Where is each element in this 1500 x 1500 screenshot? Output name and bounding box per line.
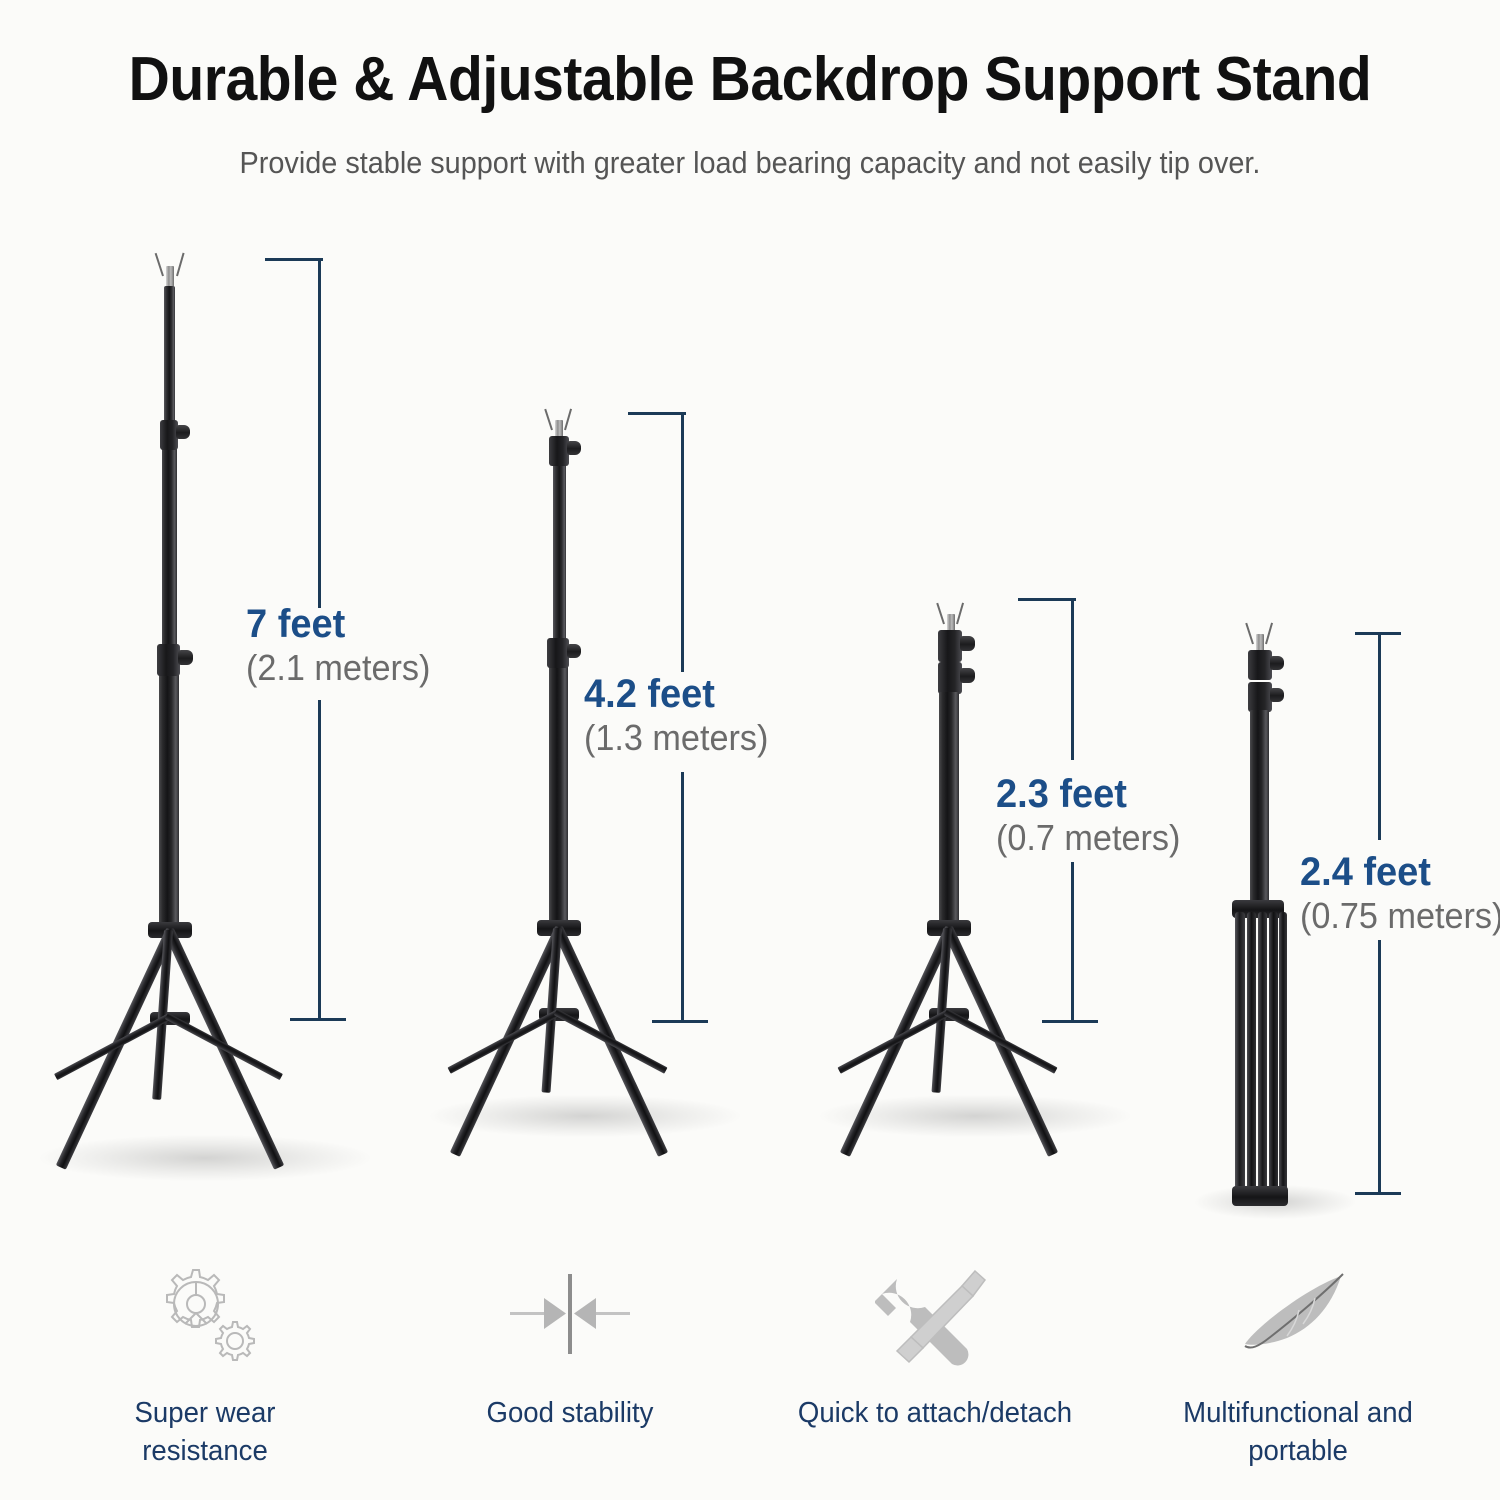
- center-column: [1250, 710, 1269, 910]
- feature-quick-attach-detach: Quick to attach/detach: [755, 1255, 1115, 1433]
- lock-collar-2[interactable]: [938, 662, 962, 694]
- dim-tick-bottom: [290, 1018, 346, 1021]
- feature-good-stability: Good stability: [390, 1255, 750, 1433]
- dim-tick-top: [1018, 598, 1076, 601]
- dim-line-upper: [1071, 598, 1074, 760]
- feature-multifunctional-portable: Multifunctional and portable: [1118, 1255, 1478, 1470]
- lock-collar-1[interactable]: [938, 630, 962, 662]
- stability-arrows-icon: [390, 1255, 750, 1373]
- spigot-clip-right-icon: [1265, 623, 1273, 645]
- dim-line-lower: [681, 772, 684, 1022]
- dim-tick-bottom: [652, 1020, 708, 1023]
- folded-leg-3: [1258, 912, 1267, 1204]
- tube-section-1: [553, 452, 566, 648]
- tube-section-2: [162, 428, 177, 656]
- folded-strut-2: [1279, 912, 1287, 1204]
- lock-collar-2[interactable]: [547, 638, 569, 668]
- tube-section-1: [939, 692, 959, 928]
- spigot: [166, 266, 174, 288]
- product-infographic: Durable & Adjustable Backdrop Support St…: [0, 0, 1500, 1500]
- dim-line-lower: [1378, 940, 1381, 1194]
- dim-tick-bottom: [1042, 1020, 1098, 1023]
- feather-icon: [1118, 1255, 1478, 1373]
- page-title: Durable & Adjustable Backdrop Support St…: [60, 44, 1440, 115]
- measure-label-4: 2.4 feet (0.75 meters): [1300, 850, 1500, 936]
- lock-collar-2[interactable]: [1248, 682, 1272, 712]
- folded-leg-2: [1247, 912, 1256, 1204]
- dim-tick-bottom: [1355, 1192, 1401, 1195]
- lock-knob-2[interactable]: [567, 644, 581, 658]
- measure-meters: (0.7 meters): [996, 817, 1180, 858]
- tube-section-3: [159, 652, 179, 930]
- fold-hub-bottom: [1232, 1186, 1288, 1206]
- lock-collar-1[interactable]: [1248, 650, 1272, 680]
- feature-label: Multifunctional and portable: [1127, 1395, 1469, 1470]
- dim-tick-top: [265, 258, 323, 261]
- measure-feet: 4.2 feet: [584, 672, 768, 717]
- spigot-clip-left-icon: [1245, 623, 1254, 645]
- dim-line-lower: [1071, 862, 1074, 1022]
- page-subtitle: Provide stable support with greater load…: [53, 145, 1448, 181]
- tripod-strut-left: [944, 1009, 1058, 1074]
- dim-line-upper: [681, 412, 684, 672]
- measure-meters: (2.1 meters): [246, 647, 430, 688]
- lock-knob-2[interactable]: [1270, 688, 1284, 702]
- lock-knob-2[interactable]: [960, 668, 975, 683]
- lock-knob-1[interactable]: [1270, 656, 1284, 670]
- feature-label: Quick to attach/detach: [764, 1395, 1106, 1433]
- spigot-clip-left-icon: [544, 409, 553, 431]
- spigot-clip-right-icon: [564, 409, 572, 431]
- lock-knob-1[interactable]: [567, 441, 581, 455]
- measure-label-3: 2.3 feet (0.7 meters): [996, 772, 1190, 858]
- lock-collar-2[interactable]: [157, 644, 180, 676]
- dim-tick-top: [628, 412, 686, 415]
- spigot-clip-right-icon: [176, 253, 185, 277]
- tripod-strut-left: [165, 1013, 283, 1080]
- tripod-strut-left: [554, 1009, 668, 1074]
- measure-meters: (0.75 meters): [1300, 895, 1500, 936]
- lock-collar-1[interactable]: [549, 436, 569, 466]
- wrench-screwdriver-icon: [755, 1255, 1115, 1373]
- measure-feet: 2.3 feet: [996, 772, 1180, 817]
- lock-knob-2[interactable]: [178, 650, 193, 665]
- dim-line-lower: [318, 700, 321, 1020]
- spigot-clip-left-icon: [936, 603, 945, 625]
- dim-line-upper: [1378, 632, 1381, 840]
- tube-section-2: [549, 646, 568, 928]
- gears-icon: [25, 1255, 385, 1373]
- feature-label: Good stability: [399, 1395, 741, 1433]
- dim-line-upper: [318, 258, 321, 608]
- stand-shadow: [40, 1135, 370, 1181]
- spigot-clip-left-icon: [155, 253, 164, 276]
- measure-label-2: 4.2 feet (1.3 meters): [584, 672, 778, 758]
- measure-meters: (1.3 meters): [584, 717, 768, 758]
- folded-strut-1: [1269, 912, 1278, 1204]
- measure-feet: 7 feet: [246, 602, 430, 647]
- measure-feet: 2.4 feet: [1300, 850, 1500, 895]
- tube-section-1: [164, 286, 175, 430]
- lock-knob-1[interactable]: [176, 425, 190, 439]
- lock-knob-1[interactable]: [960, 636, 975, 651]
- feature-super-wear-resistance: Super wear resistance: [25, 1255, 385, 1470]
- spigot-clip-right-icon: [956, 603, 964, 625]
- measure-label-1: 7 feet (2.1 meters): [246, 602, 440, 688]
- feature-label: Super wear resistance: [34, 1395, 376, 1470]
- folded-leg-1: [1235, 912, 1245, 1204]
